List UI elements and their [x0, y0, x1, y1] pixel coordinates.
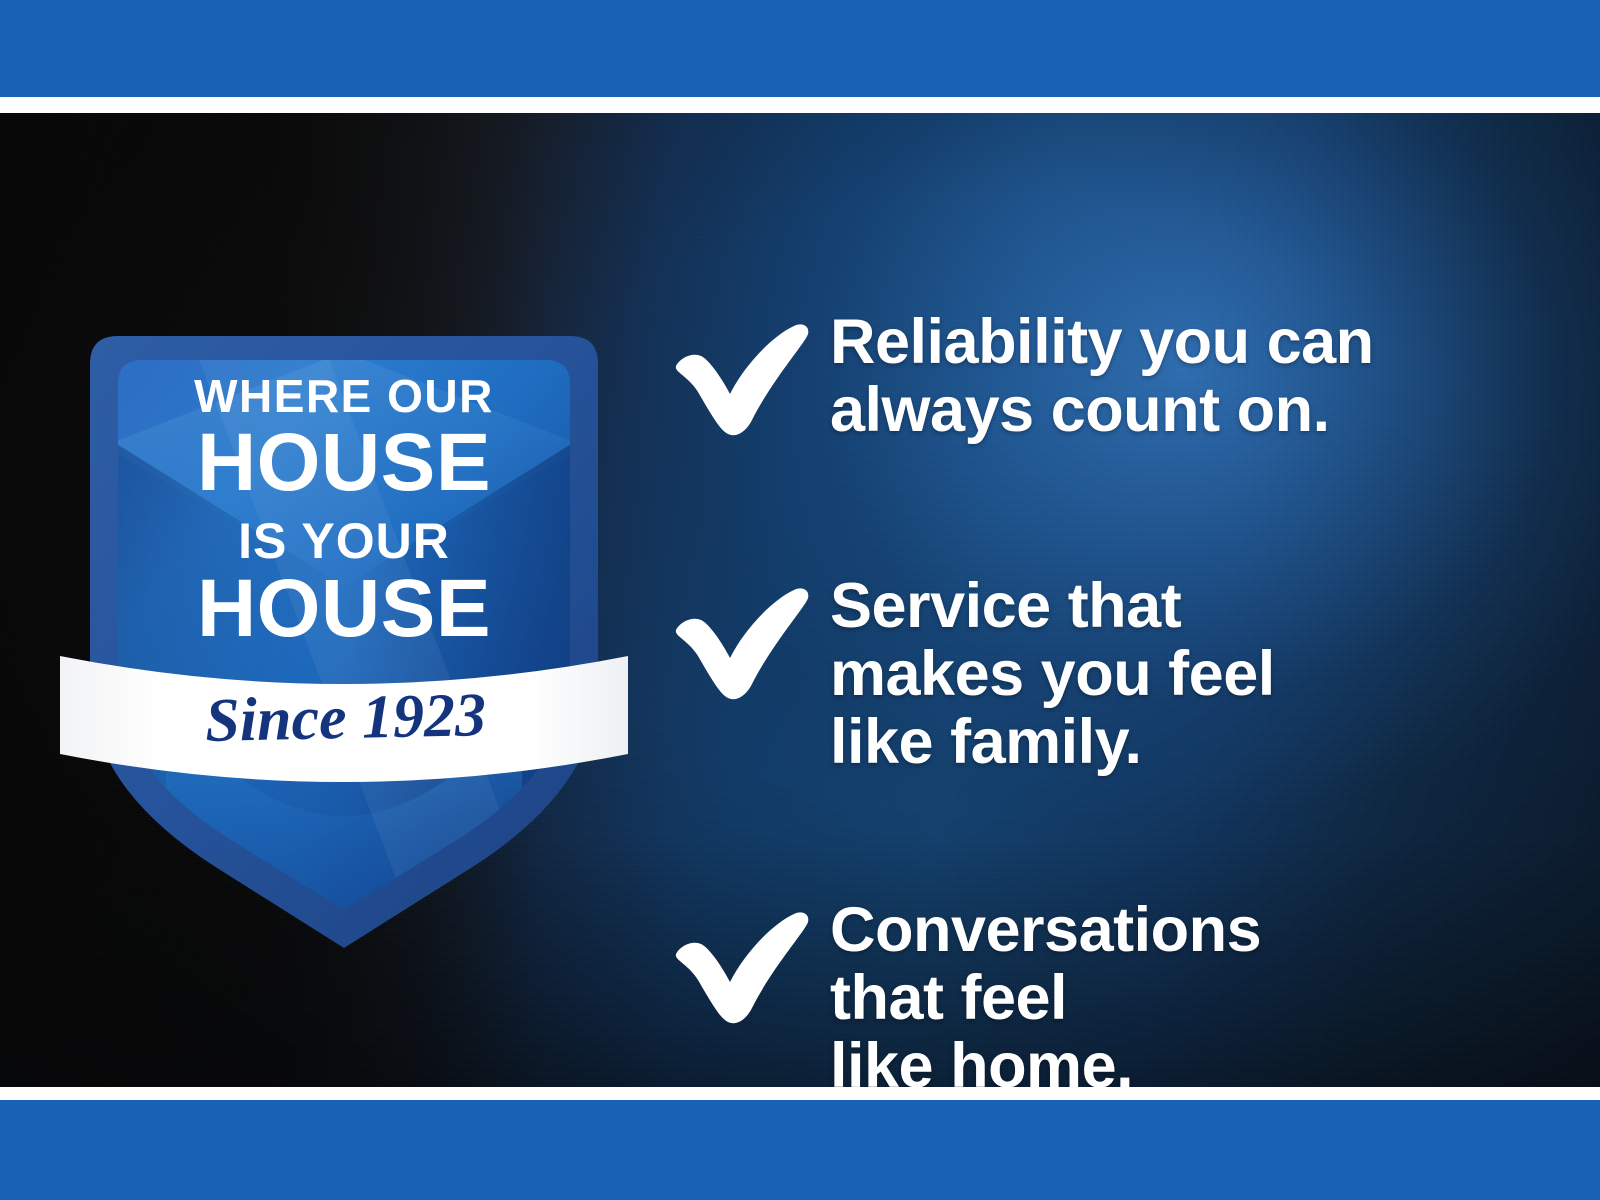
bottom-brand-bar — [0, 1100, 1600, 1200]
benefit-item-service: Service that makes you feel like family. — [668, 572, 1548, 776]
benefit-item-conversations: Conversations that feel like home. — [668, 896, 1548, 1087]
badge-line-3: IS YOUR — [238, 513, 450, 569]
top-brand-bar — [0, 0, 1600, 97]
ribbon-since-text: Since 1923 — [205, 681, 487, 755]
benefit-item-reliability: Reliability you can always count on. — [668, 308, 1548, 444]
benefit-text-service: Service that makes you feel like family. — [830, 572, 1275, 776]
badge-line-4: HOUSE — [197, 563, 491, 654]
badge-line-2: HOUSE — [197, 417, 491, 508]
badge-line-1: WHERE OUR — [194, 370, 494, 422]
benefits-list: Reliability you can always count on. Ser… — [668, 308, 1548, 1087]
benefit-text-reliability: Reliability you can always count on. — [830, 308, 1374, 444]
check-icon — [668, 308, 830, 440]
main-panel: WHERE OUR HOUSE IS YOUR HOUSE Since 1923 — [0, 113, 1600, 1087]
shield-badge-logo: WHERE OUR HOUSE IS YOUR HOUSE Since 1923 — [74, 286, 614, 926]
check-icon — [668, 896, 830, 1028]
check-icon — [668, 572, 830, 704]
promo-graphic: WHERE OUR HOUSE IS YOUR HOUSE Since 1923 — [0, 0, 1600, 1200]
benefit-text-conversations: Conversations that feel like home. — [830, 896, 1261, 1087]
